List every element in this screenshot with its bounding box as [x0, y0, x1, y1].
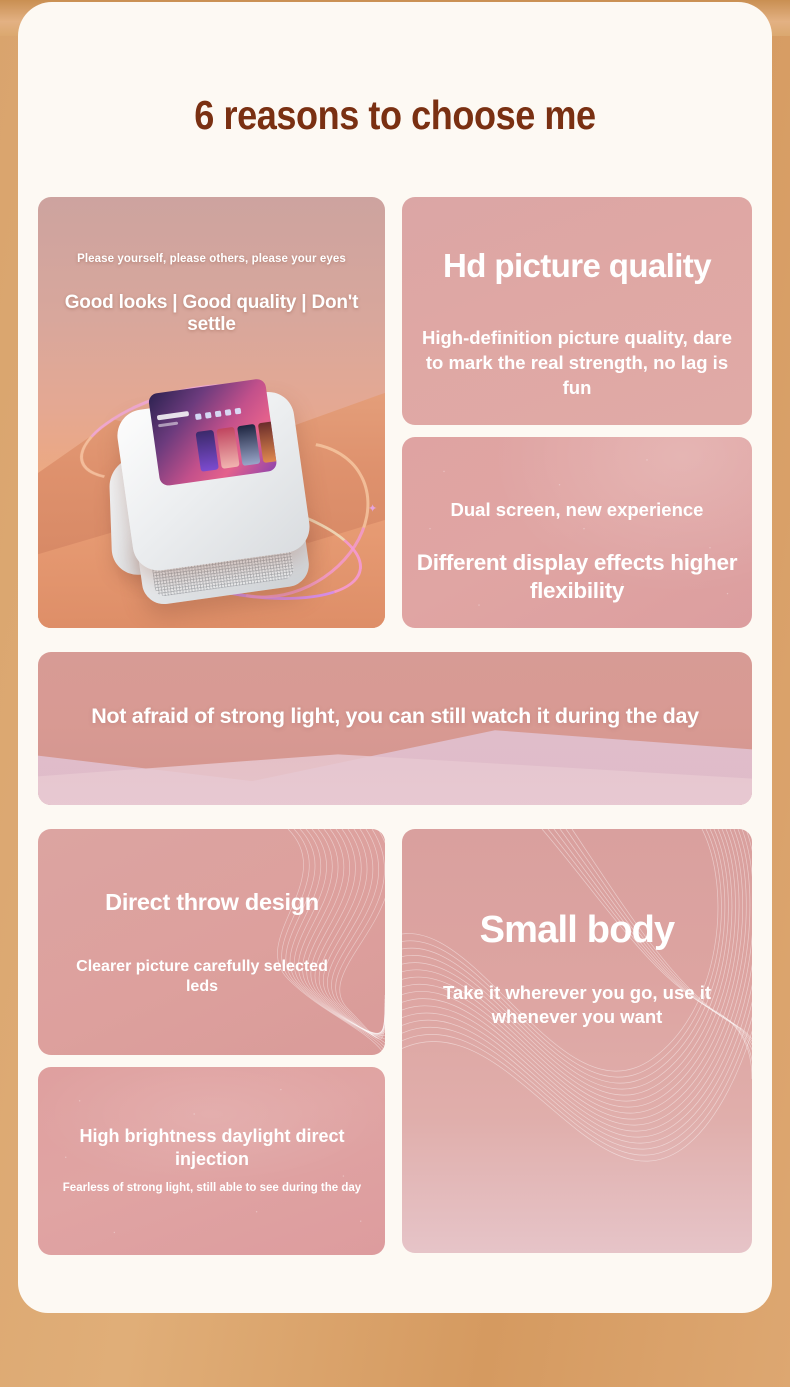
sparkle-icon: ✦	[368, 502, 377, 515]
card-small-heading: Small body	[402, 909, 752, 952]
card-throw-body: Clearer picture carefully selected leds	[72, 957, 332, 997]
card-high-brightness[interactable]: High brightness daylight direct injectio…	[38, 1067, 385, 1255]
card-dual-heading: Different display effects higher flexibi…	[412, 549, 742, 605]
device-screen	[148, 378, 278, 487]
card-dual-subheading: Dual screen, new experience	[402, 499, 752, 521]
card-hd-heading: Hd picture quality	[402, 247, 752, 285]
card-dual-screen[interactable]: Dual screen, new experience Different di…	[402, 437, 752, 628]
screen-app-icons	[195, 408, 241, 420]
content-panel: 6 reasons to choose me ✦ ✦ ✦ ✦ ✦	[18, 2, 772, 1313]
page-title: 6 reasons to choose me	[63, 92, 727, 139]
projector-device-image	[92, 358, 338, 626]
screen-subtitle-bar	[158, 422, 178, 428]
card-hd-picture-quality[interactable]: Hd picture quality High-definition pictu…	[402, 197, 752, 425]
outer-frame: 6 reasons to choose me ✦ ✦ ✦ ✦ ✦	[0, 0, 790, 1387]
card-direct-throw-design[interactable]: Direct throw design Clearer picture care…	[38, 829, 385, 1055]
hero-tagline-small: Please yourself, please others, please y…	[38, 253, 385, 265]
card-small-body-text: Take it wherever you go, use it whenever…	[442, 981, 712, 1028]
card-throw-heading: Direct throw design	[52, 889, 372, 916]
card-strong-light-banner[interactable]: Not afraid of strong light, you can stil…	[38, 652, 752, 805]
wave-lines-decoration	[38, 829, 385, 1055]
card-bright-body: Fearless of strong light, still able to …	[44, 1182, 380, 1194]
card-bright-heading: High brightness daylight direct injectio…	[52, 1125, 372, 1171]
card-banner-text: Not afraid of strong light, you can stil…	[38, 704, 752, 729]
wave-lines-decoration	[402, 829, 752, 1253]
screen-thumbnails	[195, 418, 277, 472]
hero-tagline-large: Good looks | Good quality | Don't settle	[38, 292, 385, 336]
screen-title-bar	[157, 411, 189, 420]
card-product-hero[interactable]: ✦ ✦ ✦ ✦ ✦	[38, 197, 385, 628]
card-small-body[interactable]: Small body Take it wherever you go, use …	[402, 829, 752, 1253]
card-hd-body: High-definition picture quality, dare to…	[420, 325, 734, 400]
